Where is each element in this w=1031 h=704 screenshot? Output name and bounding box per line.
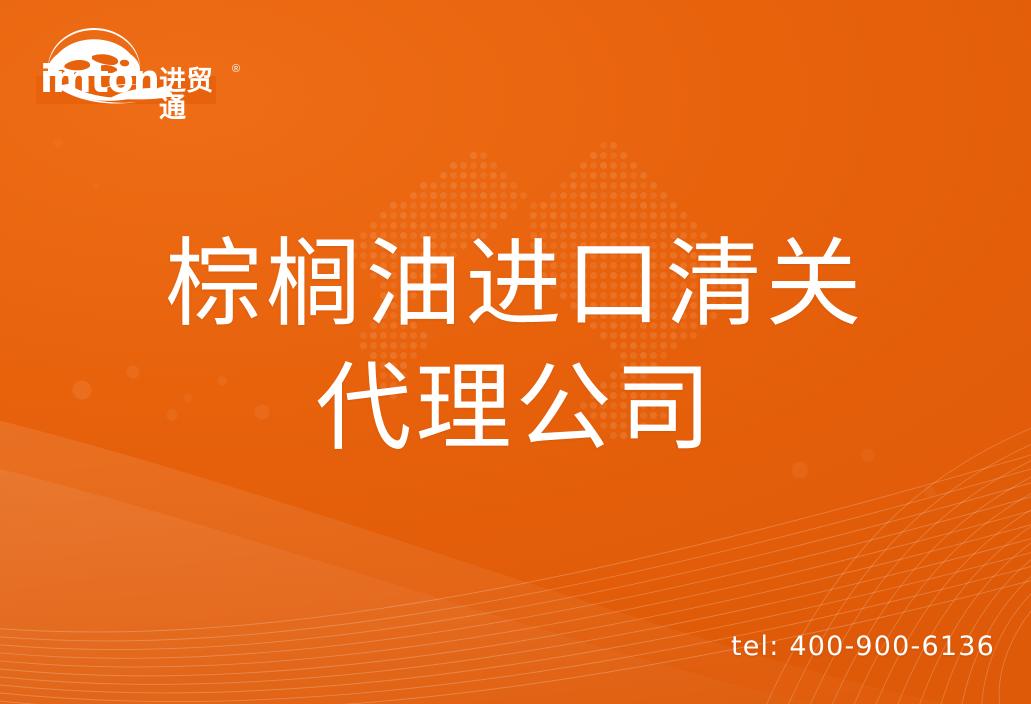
logo-chinese-name: 进贸通 (159, 68, 216, 122)
promo-banner: imton 进贸通 ® 棕榈油进口清关 代理公司 tel: 400-900-61… (0, 0, 1031, 704)
headline-line-1: 棕榈油进口清关 (0, 222, 1031, 346)
contact-phone[interactable]: tel: 400-900-6136 (731, 632, 995, 662)
registered-trademark-icon: ® (232, 63, 240, 75)
headline-line-2: 代理公司 (0, 346, 1031, 470)
brand-logo[interactable]: imton 进贸通 ® (36, 26, 216, 104)
page-title: 棕榈油进口清关 代理公司 (0, 222, 1031, 470)
logo-wordmark: imton (40, 60, 159, 98)
